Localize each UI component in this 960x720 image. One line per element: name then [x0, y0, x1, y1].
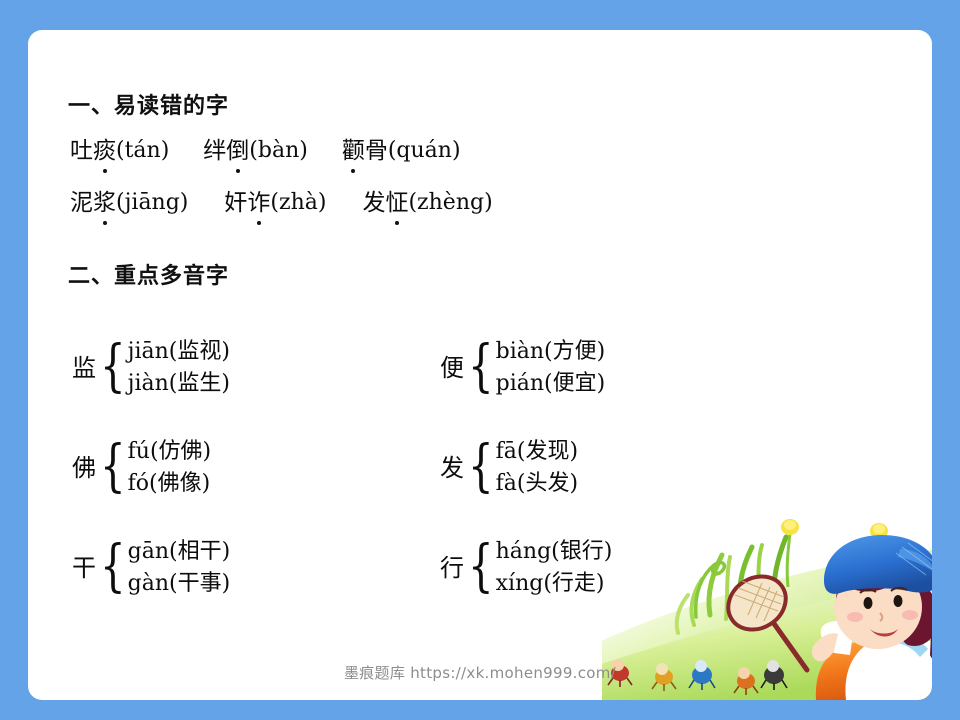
polyphone-character: 行: [440, 556, 465, 580]
hanzi: 奸: [224, 190, 247, 216]
hanzi-dotted: 颧: [342, 138, 365, 164]
reading: fó(佛像): [128, 472, 211, 496]
word-item: 吐痰(tán): [70, 138, 169, 164]
word-row: 吐痰(tán) 绊倒(bàn) 颧骨(quán): [70, 138, 495, 164]
reading: gān(相干): [128, 540, 231, 564]
polyphone-entry: 干 { gān(相干) gàn(干事): [70, 518, 430, 618]
section-two-heading: 二、重点多音字: [68, 258, 229, 290]
word-item: 颧骨(quán): [342, 138, 461, 164]
hanzi-dotted: 诈: [247, 190, 270, 216]
word-item: 发怔(zhèng): [362, 190, 492, 216]
polyphone-readings: fā(发现) fà(头发): [496, 440, 578, 496]
curly-brace-icon: {: [100, 545, 126, 589]
reading: fā(发现): [496, 440, 578, 464]
word-item: 泥浆(jiāng): [70, 190, 188, 216]
word-item: 奸诈(zhà): [224, 190, 326, 216]
section-one-heading: 一、易读错的字: [68, 88, 229, 120]
reading: gàn(干事): [128, 572, 231, 596]
polyphone-entry: 监 { jiān(监视) jiàn(监生): [70, 318, 430, 418]
curly-brace-icon: {: [100, 345, 126, 389]
hanzi-dotted: 痰: [93, 138, 116, 164]
reading: fà(头发): [496, 472, 578, 496]
pinyin: (quán): [388, 138, 461, 163]
pinyin: (zhèng): [408, 190, 492, 215]
hanzi: 吐: [70, 138, 93, 164]
polyphone-row: 监 { jiān(监视) jiàn(监生) 便 { biàn(方便) pián(…: [70, 318, 890, 418]
word-row: 泥浆(jiāng) 奸诈(zhà) 发怔(zhèng): [70, 190, 529, 216]
word-item: 绊倒(bàn): [203, 138, 308, 164]
polyphone-character: 佛: [72, 456, 97, 480]
hanzi: 泥: [70, 190, 93, 216]
polyphone-row: 佛 { fú(仿佛) fó(佛像) 发 { fā(发现) fà(头发): [70, 418, 890, 518]
polyphone-grid: 监 { jiān(监视) jiàn(监生) 便 { biàn(方便) pián(…: [70, 318, 890, 618]
pinyin: (jiāng): [116, 190, 188, 215]
reading: jiān(监视): [128, 340, 230, 364]
pinyin: (zhà): [270, 190, 326, 215]
polyphone-character: 发: [440, 456, 465, 480]
polyphone-readings: biàn(方便) pián(便宜): [496, 340, 606, 396]
polyphone-entry: 便 { biàn(方便) pián(便宜): [430, 318, 810, 418]
polyphone-row: 干 { gān(相干) gàn(干事) 行 { háng(银行) xíng(行走…: [70, 518, 890, 618]
polyphone-readings: fú(仿佛) fó(佛像): [128, 440, 211, 496]
watermark-text: 墨痕题库 https://xk.mohen999.com/: [28, 662, 932, 683]
slide-panel: 一、易读错的字 吐痰(tán) 绊倒(bàn) 颧骨(quán) 泥浆(jiān…: [28, 30, 932, 700]
polyphone-readings: háng(银行) xíng(行走): [496, 540, 613, 596]
polyphone-readings: gān(相干) gàn(干事): [128, 540, 231, 596]
curly-brace-icon: {: [100, 445, 126, 489]
polyphone-readings: jiān(监视) jiàn(监生): [128, 340, 230, 396]
hanzi-dotted: 浆: [93, 190, 116, 216]
reading: pián(便宜): [496, 372, 606, 396]
slide-frame: 一、易读错的字 吐痰(tán) 绊倒(bàn) 颧骨(quán) 泥浆(jiān…: [0, 0, 960, 720]
hanzi: 绊: [203, 138, 226, 164]
curly-brace-icon: {: [468, 445, 494, 489]
polyphone-character: 干: [72, 556, 97, 580]
reading: fú(仿佛): [128, 440, 211, 464]
reading: háng(银行): [496, 540, 613, 564]
reading: biàn(方便): [496, 340, 606, 364]
hanzi-dotted: 倒: [226, 138, 249, 164]
polyphone-character: 监: [72, 356, 97, 380]
curly-brace-icon: {: [468, 345, 494, 389]
polyphone-character: 便: [440, 356, 465, 380]
polyphone-entry: 佛 { fú(仿佛) fó(佛像): [70, 418, 430, 518]
reading: jiàn(监生): [128, 372, 230, 396]
hanzi: 发: [362, 190, 385, 216]
hanzi-dotted: 怔: [385, 190, 408, 216]
reading: xíng(行走): [496, 572, 613, 596]
pinyin: (tán): [116, 138, 169, 163]
curly-brace-icon: {: [468, 545, 494, 589]
polyphone-entry: 行 { háng(银行) xíng(行走): [430, 518, 810, 618]
pinyin: (bàn): [249, 138, 308, 163]
polyphone-entry: 发 { fā(发现) fà(头发): [430, 418, 810, 518]
hanzi: 骨: [365, 138, 388, 164]
